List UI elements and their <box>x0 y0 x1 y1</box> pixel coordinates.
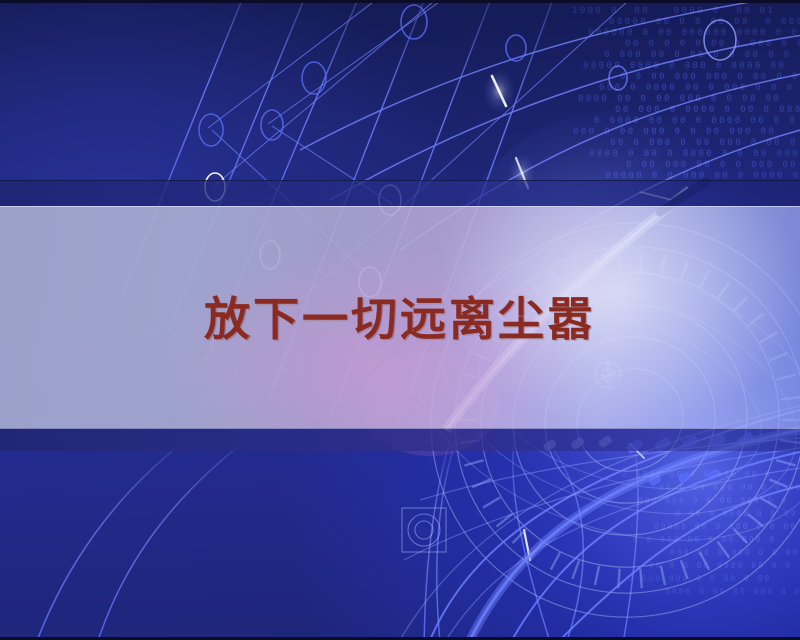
binary-row: 00 0 00 000 00 0 0 000 <box>659 483 800 492</box>
binary-row: 0000 0 00 00 000 0 0 <box>665 587 800 596</box>
binary-row: 000 00 0 000 0 0 00 0 <box>670 548 800 557</box>
band-dark-top <box>0 180 800 206</box>
binary-row: 0 0000 00 0 0 000 00 0 <box>622 470 772 479</box>
slide-canvas: 1000 0 00 0000 0 00 0100000 00 0 0 00 00… <box>0 0 800 640</box>
binary-row: 0 000 000 0 0 00 0 00 <box>628 574 771 583</box>
binary-row: 0 00 0 0000 0 0 00 00 <box>675 509 800 518</box>
binary-row: 000 000 0 0 00 000 0 0 <box>638 496 788 505</box>
band-dark-bottom <box>0 428 800 451</box>
top-edge-line <box>0 0 800 3</box>
binary-row: 00 0 0 00 0000 00 0 0 <box>649 561 792 570</box>
binary-row: 00000 00 0 000 0 0 00 <box>654 522 797 531</box>
binary-row: 0 0 000 00 0 00 000 0 <box>633 535 776 544</box>
page-title: 放下一切远离尘嚣 <box>0 296 800 342</box>
